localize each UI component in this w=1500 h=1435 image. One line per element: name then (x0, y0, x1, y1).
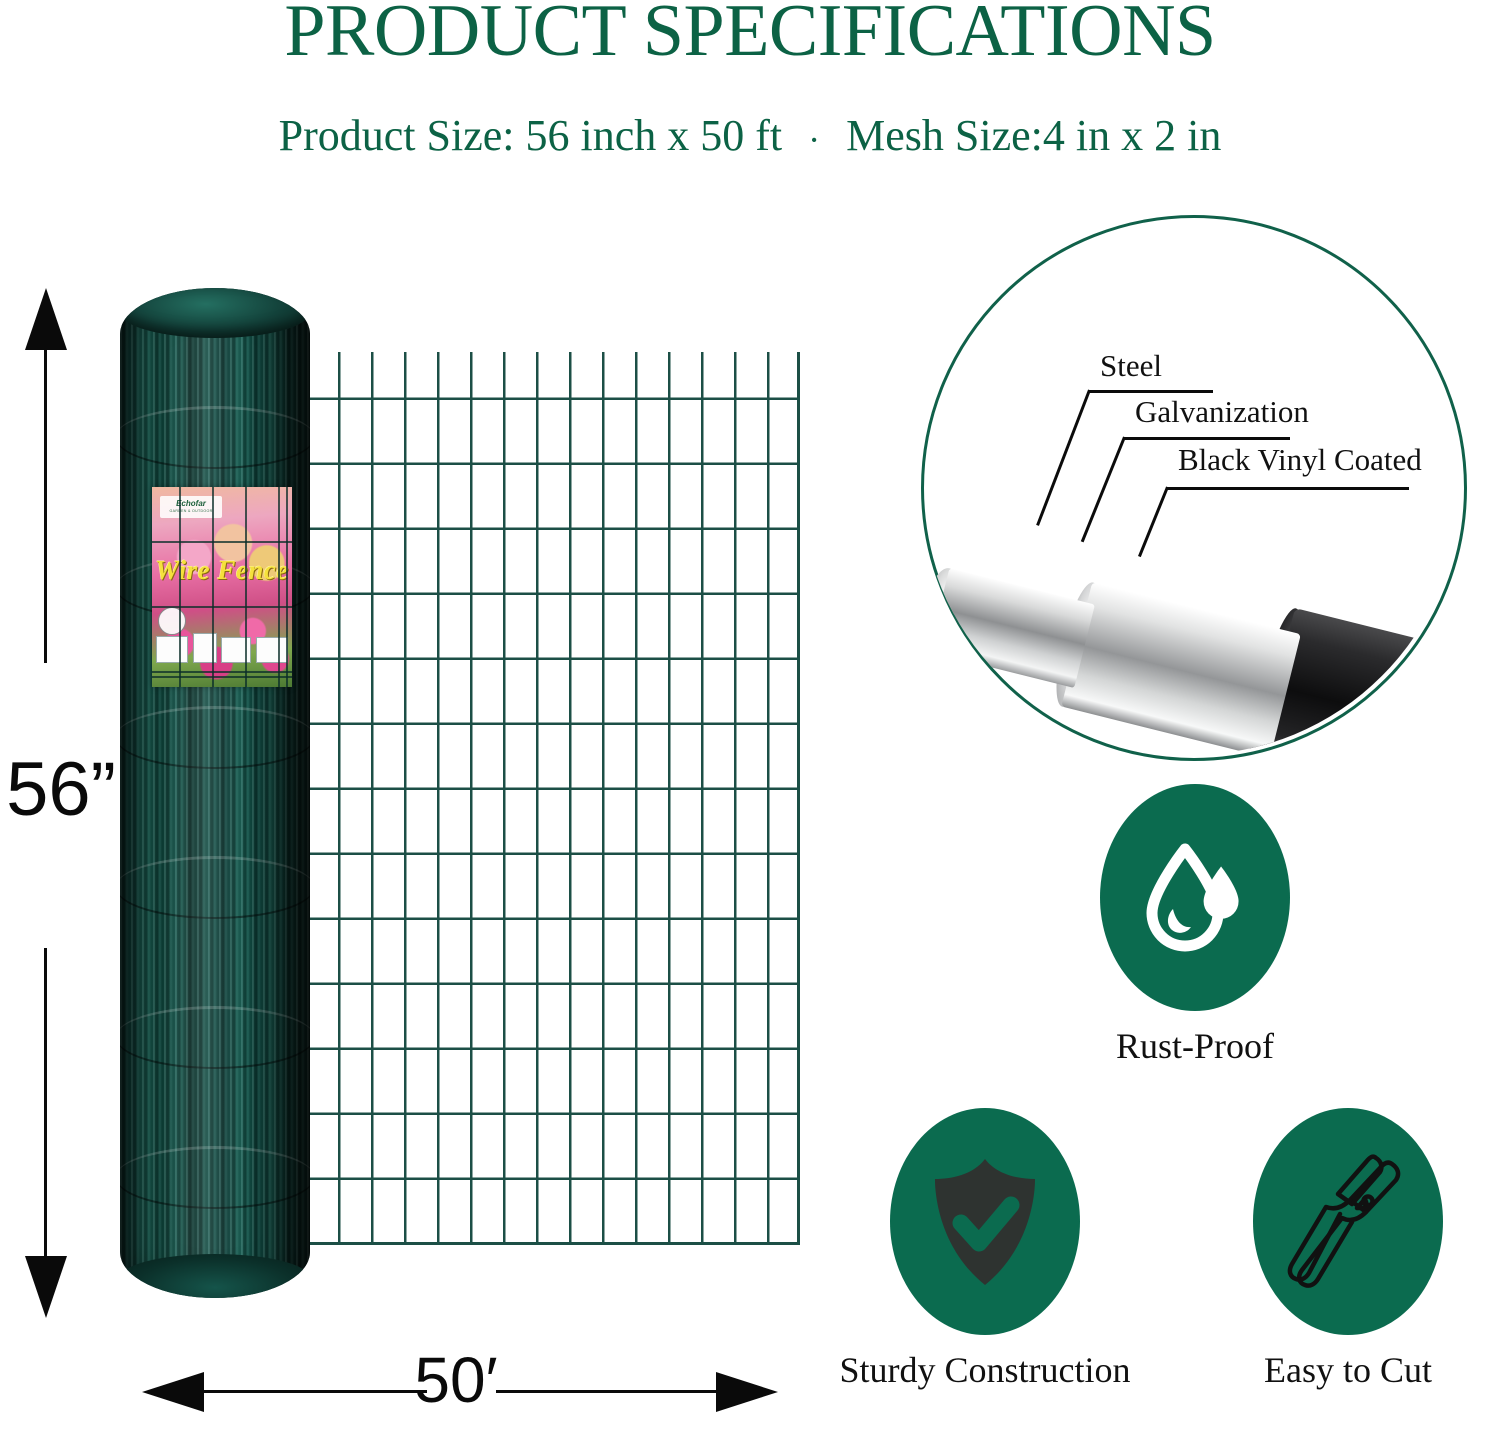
fence-roll (120, 288, 310, 1298)
product-label: Echofar GARDEN & OUTDOOR Wire Fence (152, 487, 292, 687)
callout-label-steel: Steel (1100, 350, 1162, 381)
mesh-edge-bottom (305, 1242, 800, 1245)
mesh-edge-right (797, 352, 800, 1245)
mesh-size-text: Mesh Size:4 in x 2 in (846, 111, 1221, 160)
dimension-arrow-right-head (716, 1372, 778, 1412)
feature-label: Easy to Cut (1264, 1352, 1432, 1388)
dimension-arrow-right-line (496, 1390, 718, 1393)
callout-label-galvanization: Galvanization (1135, 396, 1309, 427)
spec-summary-line: Product Size: 56 inch x 50 ft·Mesh Size:… (0, 114, 1500, 158)
badge-disc (890, 1108, 1080, 1335)
roll-top-cap (120, 288, 310, 338)
pliers-icon (1280, 1152, 1416, 1292)
product-size-text: Product Size: 56 inch x 50 ft (279, 111, 783, 160)
wire-mesh-panel (305, 352, 800, 1245)
shield-check-icon (925, 1155, 1045, 1289)
height-dimension-label: 56” (0, 752, 126, 828)
leader-line-galvanization-horizontal (1123, 437, 1290, 440)
dimension-arrow-up-line (44, 348, 47, 663)
dimension-arrow-down-head (25, 1256, 67, 1318)
roll-bottom-cap (120, 1254, 310, 1298)
dimension-arrow-down-line (44, 948, 47, 1260)
dimension-arrow-left-head (142, 1372, 204, 1412)
feature-label: Sturdy Construction (839, 1352, 1130, 1388)
page-title: PRODUCT SPECIFICATIONS (0, 0, 1500, 68)
roll-shading (120, 288, 310, 1298)
water-drop-icon (1140, 839, 1250, 957)
leader-line-vinyl-horizontal (1166, 487, 1409, 490)
dimension-arrow-left-line (203, 1390, 427, 1393)
width-dimension-label: 50′ (396, 1348, 516, 1412)
dimension-arrow-up-head (25, 288, 67, 350)
spec-separator-dot: · (782, 122, 846, 158)
leader-line-steel-horizontal (1088, 390, 1213, 393)
callout-label-black-vinyl-coated: Black Vinyl Coated (1178, 444, 1422, 475)
badge-disc (1100, 784, 1290, 1011)
feature-label: Rust-Proof (1116, 1028, 1274, 1064)
badge-disc (1253, 1108, 1443, 1335)
label-mesh-overlay (152, 487, 292, 687)
